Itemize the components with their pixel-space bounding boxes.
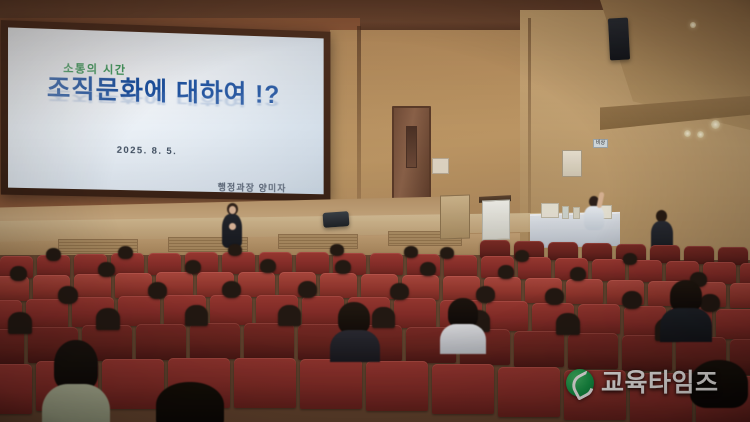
audience-head [623,253,637,265]
audience-shoulders [660,308,712,342]
audience-head [222,281,241,298]
wall-speaker-icon [608,18,630,61]
audience-head [335,260,351,274]
foreground-person [140,382,240,422]
auditorium-photo: 소통의 시간 조직문화에 대하여 !? 조직문화에 대하여 !? 2025. 8… [0,0,750,422]
presenter-face [229,206,236,214]
projection-screen: 소통의 시간 조직문화에 대하여 !? 조직문화에 대하여 !? 2025. 8… [8,27,324,194]
audience-head [515,250,529,262]
audience-head [228,244,242,256]
slide-date: 2025. 8. 5. [8,141,308,160]
door-sign [432,158,449,174]
audience-head [260,259,276,273]
watermark: 교육타임즈 [566,369,719,397]
table-paper [541,203,559,218]
projection-screen-frame: 소통의 시간 조직문화에 대하여 !? 조직문화에 대하여 !? 2025. 8… [1,20,331,201]
audience-head [622,291,642,309]
audience-person [330,302,380,362]
podium [482,200,510,241]
ceiling-light-icon [690,22,696,28]
presenter-person [219,203,245,248]
audience-head [570,267,586,281]
audience-head [545,288,564,305]
audience-head [54,340,98,390]
audience-head [46,248,61,261]
brand-name: 교육타임즈 [601,371,719,396]
audience-shoulders [330,330,380,362]
audience-head [185,305,208,326]
audience-head [58,286,78,304]
flip-board [440,194,470,239]
audience-head [298,281,317,298]
audience-person [440,298,486,354]
ceiling-light-icon [711,120,720,129]
audience-head [185,260,201,274]
presenter-hands [229,223,236,230]
ceiling-light-icon [684,130,691,137]
stage-vent [278,234,358,249]
audience-head [148,282,167,299]
wall-poster [562,150,582,177]
audience-head [8,312,32,334]
audience-head [556,313,580,335]
table-cup [573,207,580,219]
door-window [406,126,417,168]
audience-shoulders [42,384,110,422]
audience-head [498,265,514,279]
side-door [392,106,431,208]
audience-head [156,382,224,422]
staff-body [584,206,604,230]
presentation-slide: 소통의 시간 조직문화에 대하여 !? 조직문화에 대하여 !? 2025. 8… [8,27,324,194]
audience-head [278,305,301,326]
stage-monitor-speaker [323,211,350,228]
audience-head [404,246,418,258]
audience-head [118,246,133,259]
table-bottle [562,206,569,219]
staff-person-seated [583,196,605,230]
slide-presenter: 행정과장 양미자 [31,175,287,194]
audience-head [10,266,27,281]
audience-head [440,247,454,259]
ceiling-light-icon [697,131,704,138]
audience-head [96,308,120,330]
audience-head [98,262,115,277]
foreground-person [40,340,110,422]
presenter-body [222,214,242,248]
audience-person [660,280,712,342]
audience-head [330,244,344,256]
audience-head [420,262,436,276]
audience-shoulders [440,324,486,354]
audience-head [390,283,409,300]
brand-logo-icon [566,369,594,397]
exit-sign: 비상 [593,139,608,148]
